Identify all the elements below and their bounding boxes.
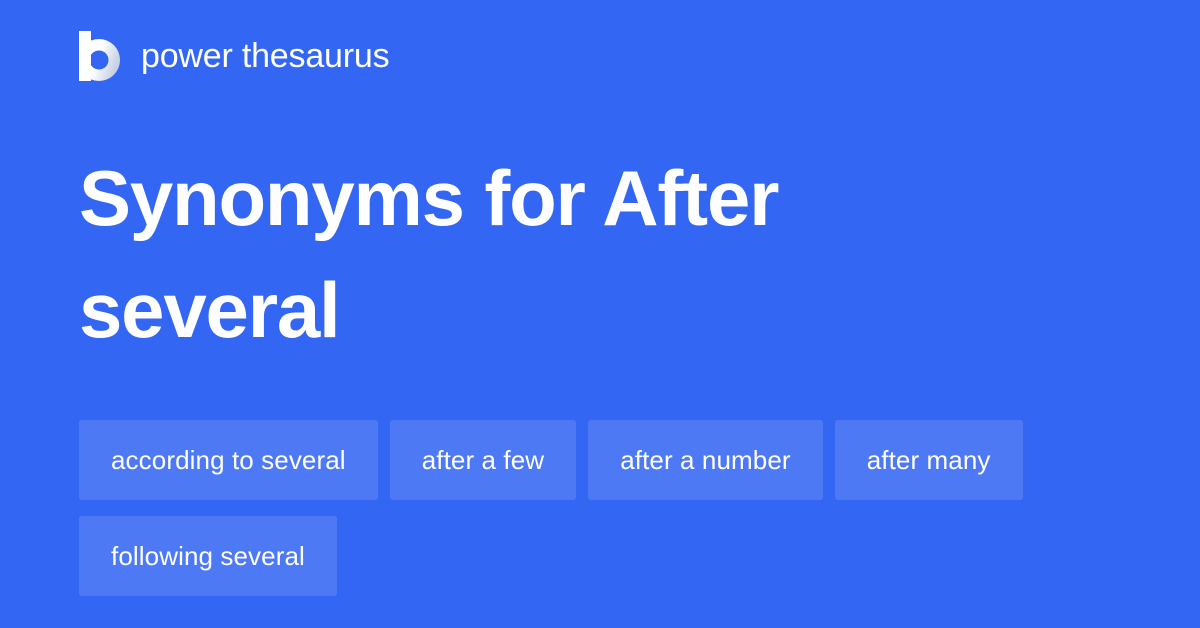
share-card: power thesaurus Synonyms for After sever… xyxy=(0,0,1200,628)
synonym-chip[interactable]: after a number xyxy=(588,420,823,500)
synonym-chip[interactable]: following several xyxy=(79,516,337,596)
synonym-chip[interactable]: after many xyxy=(835,420,1023,500)
synonym-chip-list: according to several after a few after a… xyxy=(79,420,1129,596)
brand-header[interactable]: power thesaurus xyxy=(79,30,389,82)
power-thesaurus-b-logo-icon xyxy=(79,31,123,81)
page-title: Synonyms for After several xyxy=(79,142,979,366)
brand-name-label: power thesaurus xyxy=(141,39,389,73)
synonym-chip[interactable]: according to several xyxy=(79,420,378,500)
synonym-chip[interactable]: after a few xyxy=(390,420,577,500)
